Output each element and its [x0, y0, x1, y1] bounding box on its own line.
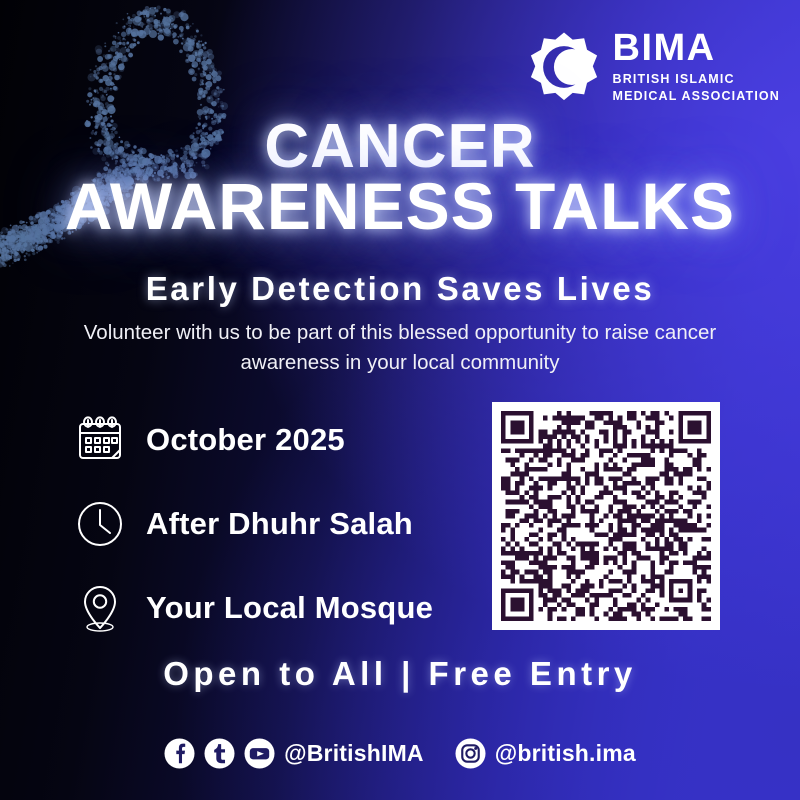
qr-code[interactable] [492, 402, 720, 630]
poster-blurb: Volunteer with us to be part of this ble… [60, 318, 740, 377]
social-media-bar: @BritishIMA @british.ima [0, 738, 800, 769]
open-to-all-banner: Open to All | Free Entry [0, 655, 800, 693]
logo-name: BIMA [613, 30, 780, 67]
clock-icon [74, 498, 126, 550]
detail-row-time: After Dhuhr Salah [74, 482, 474, 566]
headline-line-2: AWARENESS TALKS [0, 176, 800, 237]
detail-label-date: October 2025 [146, 422, 345, 458]
poster-canvas: BIMA BRITISH ISLAMIC MEDICAL ASSOCIATION… [0, 0, 800, 800]
logo-subtitle-line2: MEDICAL ASSOCIATION [613, 88, 780, 105]
social-handle-primary: @BritishIMA [284, 740, 424, 767]
detail-label-location: Your Local Mosque [146, 590, 433, 626]
qr-code-modules [501, 411, 711, 621]
tumblr-icon[interactable] [204, 738, 235, 769]
poster-tagline: Early Detection Saves Lives [0, 270, 800, 308]
logo-subtitle-line1: BRITISH ISLAMIC [613, 71, 780, 88]
instagram-icon[interactable] [455, 738, 486, 769]
youtube-icon[interactable] [244, 738, 275, 769]
bima-logo: BIMA BRITISH ISLAMIC MEDICAL ASSOCIATION [528, 30, 780, 104]
detail-row-location: Your Local Mosque [74, 566, 474, 650]
event-details-list: October 2025 After Dhuhr Salah Your Loca… [74, 398, 474, 650]
headline-line-1: CANCER [0, 118, 800, 176]
facebook-icon[interactable] [164, 738, 195, 769]
detail-label-time: After Dhuhr Salah [146, 506, 413, 542]
poster-headline: CANCER AWARENESS TALKS [0, 118, 800, 237]
social-handle-secondary: @british.ima [495, 740, 636, 767]
detail-row-date: October 2025 [74, 398, 474, 482]
calendar-icon [74, 414, 126, 466]
location-pin-icon [74, 582, 126, 634]
crescent-star-rosette-icon [528, 31, 600, 103]
